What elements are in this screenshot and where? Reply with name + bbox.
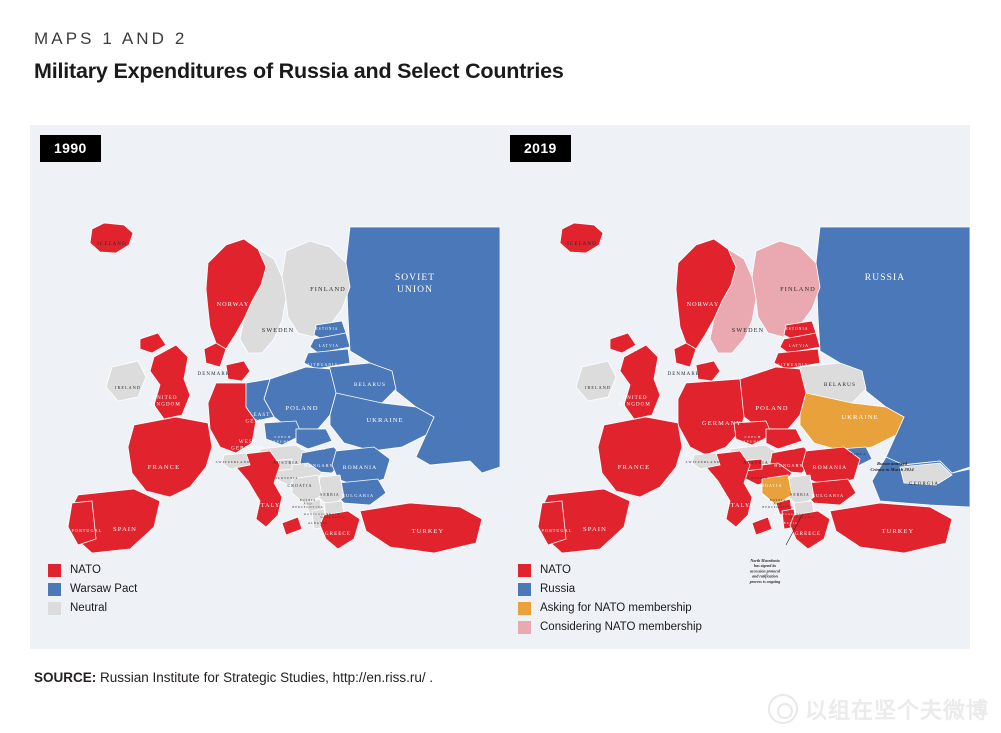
map-label: ROMANIA (813, 465, 847, 471)
page-header: MAPS 1 AND 2 Military Expenditures of Ru… (34, 30, 564, 84)
map-label: ITALY (258, 502, 281, 509)
map-label: ALBANIA (778, 522, 798, 525)
legend-swatch (48, 564, 61, 577)
map-label: PORTUGAL (72, 528, 103, 533)
legend-row: Russia (518, 583, 702, 596)
source-label: SOURCE: (34, 670, 96, 685)
weibo-logo-icon (768, 694, 798, 724)
map-label: RUSSIA (865, 273, 905, 283)
map-label: ESTONIA (785, 327, 808, 331)
year-badge-2019: 2019 (510, 135, 571, 162)
legend-swatch (48, 583, 61, 596)
map-label: ALBANIA (308, 522, 328, 525)
map-label: TURKEY (882, 528, 915, 535)
map-label: UKRAINE (366, 417, 403, 424)
map-label: NORWAY (687, 301, 720, 308)
map-label: LATVIA (789, 344, 809, 348)
map-label: AUSTRIA (273, 460, 299, 465)
map-label: LITHUANIA (778, 363, 809, 367)
map-label: CROATIA (757, 483, 782, 488)
map-label: HUNGARY (774, 463, 803, 468)
legend-label: NATO (540, 565, 571, 577)
map-label: BELARUS (354, 382, 386, 388)
map-label: SWITZERLAND (216, 460, 251, 464)
legend-label: Warsaw Pact (70, 584, 137, 596)
map-label: SWITZERLAND (686, 460, 721, 464)
map-legend-1990: NATOWarsaw PactNeutral (48, 564, 137, 621)
legend-row: NATO (48, 564, 137, 577)
map-label: ESTONIA (315, 327, 338, 331)
map-label: ICELAND (97, 242, 127, 247)
map-label: GERMANY (702, 420, 742, 427)
legend-label: Considering NATO membership (540, 622, 702, 634)
map-label: GEORGIA (909, 482, 939, 487)
map-label: HUNGARY (304, 463, 333, 468)
map-label: ICELAND (567, 242, 597, 247)
legend-swatch (518, 621, 531, 634)
map-label: GREECE (795, 532, 821, 537)
legend-row: Warsaw Pact (48, 583, 137, 596)
map-annotation-macedonia-note: North Macedoniahas signed itsaccession p… (749, 558, 781, 584)
map-label: LATVIA (319, 344, 339, 348)
map-label: SLOVAKIA (770, 447, 796, 451)
map-label: POLAND (755, 405, 788, 412)
legend-row: NATO (518, 564, 702, 577)
map-label: FRANCE (148, 464, 181, 471)
map-label: IRELAND (115, 385, 141, 390)
map-label: SPAIN (113, 526, 137, 533)
map-label: UNITEDKINGDOM (619, 396, 651, 407)
weibo-watermark: 以组在坚个夫微博 (768, 693, 989, 725)
map-label: NORWAY (217, 301, 250, 308)
map-label: AUSTRIA (743, 460, 769, 465)
map-label: POLAND (285, 405, 318, 412)
legend-swatch (48, 602, 61, 615)
map-label: BULGARIA (342, 493, 375, 498)
map-label: DENMARK (668, 372, 701, 377)
map-label: GREECE (325, 532, 351, 537)
map-label: SWEDEN (732, 327, 764, 334)
legend-label: NATO (70, 565, 101, 577)
watermark-text: 以组在坚个夫微博 (805, 693, 989, 725)
map-label: DENMARK (198, 372, 231, 377)
map-label: SERBIA (320, 493, 339, 497)
legend-row: Neutral (48, 602, 137, 615)
map-label: PORTUGAL (542, 528, 573, 533)
map-label: SWEDEN (262, 327, 294, 334)
map-label: SERBIA (790, 493, 809, 497)
map-label: ITALY (728, 502, 751, 509)
map-label: CROATIA (287, 483, 312, 488)
legend-row: Considering NATO membership (518, 621, 702, 634)
legend-swatch (518, 602, 531, 615)
map-label: CRIMEA (848, 452, 867, 456)
map-label: LITHUANIA (308, 363, 339, 367)
map-label: IRELAND (585, 385, 611, 390)
page-kicker: MAPS 1 AND 2 (34, 30, 564, 47)
page-title: Military Expenditures of Russia and Sele… (34, 59, 564, 84)
map-legend-2019: NATORussiaAsking for NATO membershipCons… (518, 564, 702, 640)
map-label: SLOVENIA (745, 476, 768, 480)
legend-label: Neutral (70, 603, 107, 615)
map-label: UNITEDKINGDOM (149, 396, 181, 407)
legend-swatch (518, 564, 531, 577)
map-label: FRANCE (618, 464, 651, 471)
legend-row: Asking for NATO membership (518, 602, 702, 615)
map-label: TURKEY (412, 528, 445, 535)
map-label: UKRAINE (841, 414, 878, 421)
legend-swatch (518, 583, 531, 596)
map-label: SPAIN (583, 526, 607, 533)
legend-label: Asking for NATO membership (540, 603, 692, 615)
source-text: Russian Institute for Strategic Studies,… (96, 670, 433, 685)
year-badge-1990: 1990 (40, 135, 101, 162)
legend-label: Russia (540, 584, 575, 596)
map-label: FINLAND (310, 286, 346, 293)
map-label: BULGARIA (812, 493, 845, 498)
map-label: ROMANIA (343, 465, 377, 471)
source-line: SOURCE: Russian Institute for Strategic … (34, 670, 433, 685)
map-label: SLOVENIA (275, 476, 298, 480)
map-label: BELARUS (824, 382, 856, 388)
map-label: SOVIETUNION (395, 273, 435, 295)
map-label: SLOVAKIA (300, 447, 326, 451)
map-label: FINLAND (780, 286, 816, 293)
